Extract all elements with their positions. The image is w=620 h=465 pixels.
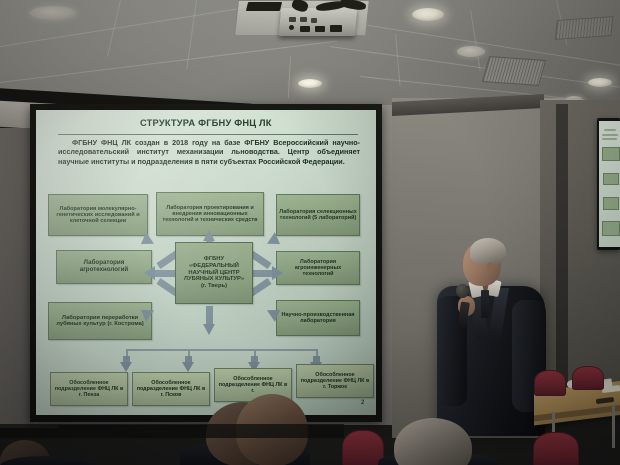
projector-port	[311, 18, 317, 23]
hub-line-2: «ФЕДЕРАЛЬНЫЙ	[189, 263, 239, 270]
node-lab-molecular-genetics: Лаборатория молекулярно-генетических исс…	[48, 194, 148, 236]
monitor-content-box	[602, 221, 620, 236]
projector-connector	[330, 25, 342, 32]
presentation-slide: СТРУКТУРА ФГБНУ ФНЦ ЛК ФГБНУ ФНЦ ЛК созд…	[36, 110, 376, 415]
node-branch-pskov: Обособленное подразделение ФНЦ ЛК в г. П…	[132, 372, 210, 406]
monitor-content-line	[602, 138, 617, 140]
speaker-hair	[470, 238, 506, 264]
hub-line-1: ФГБНУ	[204, 256, 224, 263]
arrow-head-up	[203, 230, 215, 241]
ceiling-downlight	[457, 46, 485, 57]
microphone-head	[456, 284, 469, 298]
slide-page-number: 2	[361, 400, 364, 406]
node-lab-breeding-tech: Лаборатория селекционных технологий (5 л…	[276, 194, 360, 236]
node-lab-agroengineering: Лаборатория агроинженерных технологий	[276, 251, 360, 285]
node-lab-agrotech: Лаборатория агротехнологий	[56, 250, 152, 284]
hub-line-5: (г. Тверь)	[201, 283, 227, 290]
arrow-hub-to-left	[154, 270, 176, 277]
ceiling-downlight	[588, 78, 612, 87]
wall-corner-shadow	[556, 104, 568, 404]
ceiling-downlight	[298, 79, 322, 88]
projector-connector	[315, 26, 325, 32]
arrow-hub-to-right	[252, 270, 274, 277]
node-lab-processing-kostroma: Лаборатория переработки лубяных культур …	[48, 302, 152, 340]
node-branch-penza: Обособленное подразделение ФНЦ ЛК в г. П…	[50, 372, 128, 406]
arrow-head-left	[144, 266, 155, 280]
table-leg	[612, 406, 615, 448]
slide-title: СТРУКТУРА ФГБНУ ФНЦ ЛК	[140, 118, 272, 128]
speaker-ear	[487, 262, 494, 272]
projector-port	[289, 17, 296, 22]
projection-screen: СТРУКТУРА ФГБНУ ФНЦ ЛК ФГБНУ ФНЦ ЛК созд…	[36, 110, 376, 415]
projector-lens-housing	[246, 2, 282, 11]
hub-line-4: ЛУБЯНЫХ КУЛЬТУР»	[184, 276, 244, 283]
ceiling-vent	[482, 56, 546, 86]
chair	[572, 366, 604, 390]
projector-port	[300, 17, 307, 22]
ceiling-downlight	[412, 8, 444, 21]
chair	[534, 370, 566, 396]
conference-room-photo: СТРУКТУРА ФГБНУ ФНЦ ЛК ФГБНУ ФНЦ ЛК созд…	[0, 0, 620, 465]
chair	[533, 432, 579, 465]
projector-connector	[289, 25, 294, 30]
arrow-head-right	[272, 266, 283, 280]
hub-line-3: НАУЧНЫЙ ЦЕНТР	[188, 270, 239, 277]
speaker-tie	[481, 290, 489, 318]
arrow-head-branch-2	[182, 362, 194, 372]
monitor-content-box	[603, 173, 619, 185]
monitor-content-box	[603, 197, 619, 210]
slide-intro-paragraph: ФГБНУ ФНЦ ЛК создан в 2018 году на базе …	[58, 138, 360, 166]
arrow-hub-to-bottom	[206, 306, 213, 326]
node-hub-center: ФГБНУ «ФЕДЕРАЛЬНЫЙ НАУЧНЫЙ ЦЕНТР ЛУБЯНЫХ…	[175, 242, 253, 304]
projector-connector	[300, 26, 310, 32]
node-branch-torzhok: Обособленное подразделение ФНЦ ЛК в г. Т…	[296, 364, 374, 398]
arrow-head-branch-1	[120, 362, 132, 372]
screen-base-shadow	[0, 424, 344, 438]
title-divider	[58, 134, 358, 135]
ceiling-vent	[555, 16, 614, 40]
arrow-head-down	[203, 324, 215, 335]
bottom-bus-line	[126, 349, 318, 351]
monitor-content-line	[602, 134, 618, 136]
side-monitor	[597, 118, 620, 250]
ceiling-downlight	[30, 6, 76, 20]
monitor-content-line	[604, 129, 616, 131]
node-lab-production: Научно-производственная лаборатория	[276, 300, 360, 336]
side-monitor-screen	[599, 121, 620, 247]
monitor-content-box	[602, 147, 620, 161]
